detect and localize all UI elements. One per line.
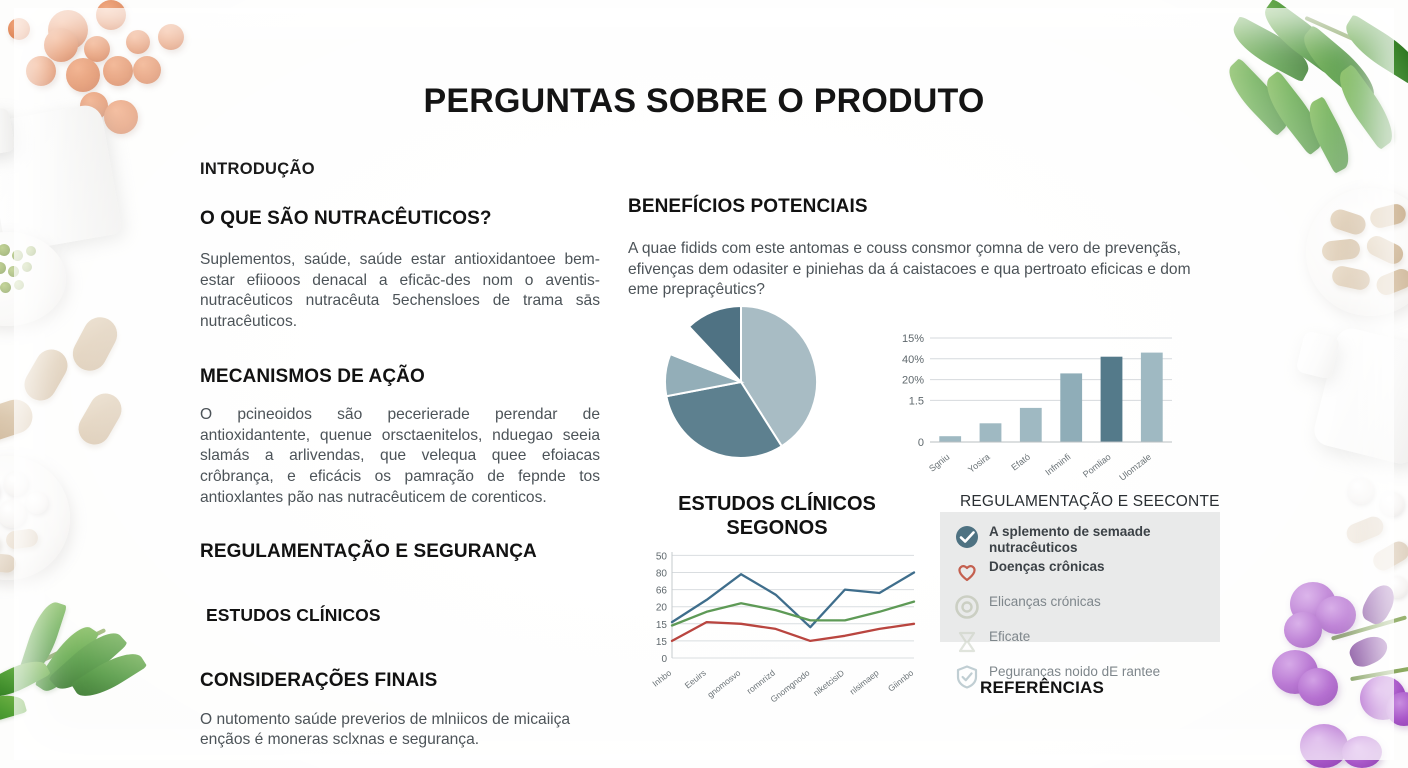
line-series-path <box>672 622 914 641</box>
shield-check-icon <box>954 664 980 695</box>
ribbon-icon <box>954 629 980 660</box>
heading-o-que-sao-nutraceuticos: O QUE SÃO NUTRACÊUTICOS? <box>200 208 600 230</box>
page-title: PERGUNTAS SOBRE O PRODUTO <box>0 82 1408 121</box>
line-x-tick-label: Giinnbo <box>886 668 915 694</box>
left-column: INTRODUÇÃO O QUE SÃO NUTRACÊUTICOS? Supl… <box>200 160 600 751</box>
bar-x-tick-label: Sgniu <box>927 452 951 474</box>
heading-estudos-clinicos-segonos: ESTUDOS CLÍNICOS SEGONOS <box>632 492 922 540</box>
studies-heading-line1: ESTUDOS CLÍNICOS <box>678 493 876 515</box>
section-eyebrow-introducao: INTRODUÇÃO <box>200 160 600 179</box>
line-x-tick-label: nlsimaep <box>848 668 881 697</box>
heading-estudos-clinicos: ESTUDOS CLÍNICOS <box>200 605 600 626</box>
pie-chart <box>634 302 870 488</box>
heading-referencias: REFERÊNCIAS <box>980 678 1104 698</box>
heading-regulamentacao-e-seeconte: REGULAMENTAÇÃO E SEECONTE <box>960 493 1220 511</box>
line-chart: 5080662015150 InhboEeuirsgnomosvoromnriz… <box>632 540 922 720</box>
bar-x-tick-label: Ulomzale <box>1117 452 1153 483</box>
line-x-tick-label: romnrizd <box>745 668 777 696</box>
bar <box>1101 357 1123 442</box>
pie-chart-svg <box>634 302 870 488</box>
bar <box>1141 353 1163 442</box>
bar-x-tick-label: Efató <box>1009 452 1032 473</box>
bar <box>1020 408 1042 442</box>
legend-item[interactable]: Elicanças crónicas <box>954 594 1206 625</box>
body-introducao: Suplementos, saúde, saúde estar antioxid… <box>200 250 600 333</box>
poster-content: PERGUNTAS SOBRE O PRODUTO INTRODUÇÃO O Q… <box>0 0 1408 768</box>
target-circle-icon <box>954 594 980 625</box>
body-mecanismos-de-acao: O pcineoidos são pecerierade perendar de… <box>200 405 600 509</box>
check-circle-icon <box>954 524 980 555</box>
bar-y-tick-label: 1.5 <box>909 395 924 407</box>
line-y-tick-label: 80 <box>656 569 668 580</box>
legend-item[interactable]: Doenças crônicas <box>954 559 1206 590</box>
line-x-tick-label: gnomosvo <box>705 668 742 700</box>
line-series-path <box>672 573 914 628</box>
heading-consideracoes-finais: CONSIDERAÇÕES FINAIS <box>200 670 600 692</box>
legend-item-label: Eficate <box>989 629 1030 645</box>
line-y-tick-label: 15 <box>656 620 668 631</box>
bar-y-tick-label: 0 <box>918 437 924 449</box>
legend-item[interactable]: A splemento de semaade nutracêuticos <box>954 524 1206 555</box>
line-x-tick-label: Inhbo <box>650 668 673 689</box>
line-chart-svg: 5080662015150 InhboEeuirsgnomosvoromnriz… <box>632 540 922 720</box>
line-y-tick-label: 15 <box>656 637 668 648</box>
legend-item[interactable]: Eficate <box>954 629 1206 660</box>
line-y-tick-label: 20 <box>656 603 668 614</box>
line-x-tick-label: nlketcisiD <box>811 668 846 698</box>
heading-beneficios-potenciais: BENEFÍCIOS POTENCIAIS <box>628 196 1208 218</box>
studies-heading-line2: SEGONOS <box>726 517 827 539</box>
bar <box>1060 373 1082 442</box>
legend-item-label: Doenças crônicas <box>989 559 1105 575</box>
body-consideracoes-finais: O nutomento saúde preverios de mlniicos … <box>200 710 600 751</box>
legend-item-label: A splemento de semaade nutracêuticos <box>989 524 1206 555</box>
legend-box: A splemento de semaade nutracêuticosDoen… <box>940 512 1220 642</box>
line-y-tick-label: 0 <box>661 654 667 665</box>
bar-chart-svg: 15%40%20%1.50 SgniuYosiraEfatóInfminfiPo… <box>884 318 1180 486</box>
bar-y-tick-label: 15% <box>902 333 924 345</box>
line-y-tick-label: 50 <box>656 551 668 562</box>
heading-regulamentacao-e-seguranca: REGULAMENTAÇÃO E SEGURANÇA <box>200 541 600 563</box>
legend-item-label: Elicanças crónicas <box>989 594 1101 610</box>
bar-chart: 15%40%20%1.50 SgniuYosiraEfatóInfminfiPo… <box>884 318 1180 486</box>
bar-x-tick-label: Yosira <box>966 452 992 475</box>
bar-x-tick-label: Pomliao <box>1081 452 1113 480</box>
heart-outline-icon <box>954 559 980 590</box>
heading-mecanismos-de-acao: MECANISMOS DE AÇÃO <box>200 366 600 388</box>
right-column: BENEFÍCIOS POTENCIAIS A quae fidids com … <box>628 196 1208 301</box>
bar-y-tick-label: 20% <box>902 375 924 387</box>
bar-y-tick-label: 40% <box>902 354 924 366</box>
bar <box>939 436 961 442</box>
line-x-tick-label: Eeuirs <box>683 668 708 691</box>
body-beneficios-potenciais: A quae fidids com este antomas e couss c… <box>628 239 1198 301</box>
bar-x-tick-label: Infminfi <box>1043 452 1072 478</box>
bar <box>980 423 1002 442</box>
poster-page: PERGUNTAS SOBRE O PRODUTO INTRODUÇÃO O Q… <box>0 0 1408 768</box>
line-y-tick-label: 66 <box>656 586 668 597</box>
